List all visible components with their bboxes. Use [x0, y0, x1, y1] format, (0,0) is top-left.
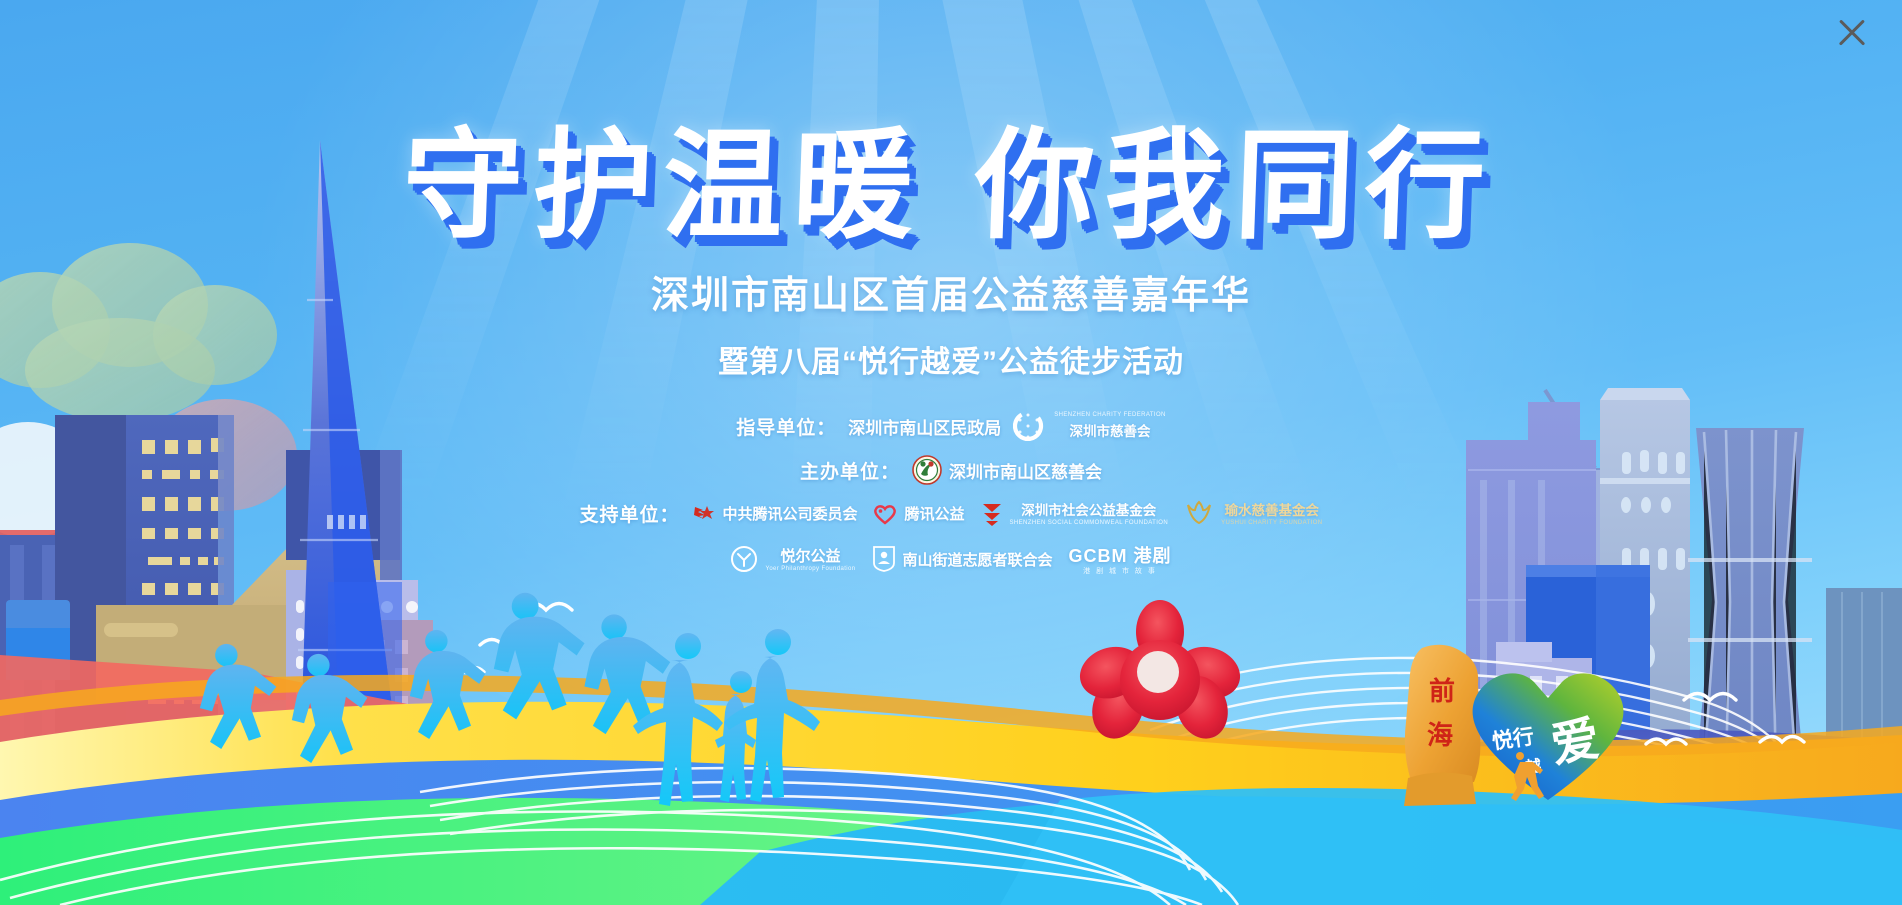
org-text-block: 瑜水慈善基金会 YUSHUI CHARITY FOUNDATION	[1221, 499, 1322, 528]
shenzhen-social-commonweal-foundation-logo	[981, 501, 1003, 527]
partner-logos: 悦尔公益 Yoer Philanthropy Foundation 南山街道志愿…	[730, 542, 1171, 577]
nanshan-charity-emblem-logo	[912, 455, 942, 485]
shenzhen-charity-federation-logo	[1013, 411, 1047, 441]
org-sub-en: Yoer Philanthropy Foundation	[765, 566, 855, 574]
org-nanshan-charity: 深圳市南山区慈善会	[912, 455, 1102, 485]
org-name: 瑜水慈善基金会	[1225, 503, 1320, 518]
org-name: 深圳市慈善会	[1070, 424, 1151, 439]
yushui-charity-foundation-logo	[1184, 500, 1214, 528]
org-yoer-philanthropy: 悦尔公益 Yoer Philanthropy Foundation	[730, 545, 855, 574]
supporter-logos: 中共腾讯公司委员会 腾讯公益	[691, 499, 1322, 528]
org-name: 南山街道志愿者联合会	[903, 549, 1053, 570]
nanshan-volunteer-union-logo	[872, 545, 896, 573]
credit-text: 深圳市南山区民政局	[848, 414, 1001, 439]
page-title: 守护温暖 你我同行	[0, 0, 1902, 248]
credit-row-organizer: 主办单位： 深圳市南山区慈善会	[800, 455, 1102, 485]
poster-stage: 前 海 悦行 越 爱 守护温暖 你我同行 深圳市南山区首届公益慈善嘉年华 暨第八…	[0, 0, 1902, 905]
org-sub-en: SHENZHEN SOCIAL COMMONWEAL FOUNDATION	[1010, 520, 1169, 528]
org-nanshan-volunteer-union: 南山街道志愿者联合会	[872, 545, 1053, 573]
org-name: GCBM 港剧	[1069, 546, 1172, 566]
credit-row-partners: 悦尔公益 Yoer Philanthropy Foundation 南山街道志愿…	[730, 542, 1171, 577]
org-shenzhen-charity-federation: SHENZHEN CHARITY FEDERATION 深圳市慈善会	[1013, 411, 1166, 441]
org-text-block: 悦尔公益 Yoer Philanthropy Foundation	[765, 545, 855, 574]
org-sub-en: SHENZHEN CHARITY FEDERATION	[1054, 412, 1166, 420]
credits-block: 指导单位： 深圳市南山区民政局 SHENZHEN CHARITY FEDERAT…	[0, 411, 1902, 576]
close-icon[interactable]	[1828, 8, 1876, 56]
org-yushui-charity: 瑜水慈善基金会 YUSHUI CHARITY FOUNDATION	[1184, 499, 1322, 528]
org-name: 深圳市南山区慈善会	[949, 458, 1102, 483]
org-text-block: 深圳市社会公益基金会 SHENZHEN SOCIAL COMMONWEAL FO…	[1010, 499, 1169, 528]
credit-row-supporters: 支持单位： 中共腾讯公司委员会 腾讯公益	[579, 499, 1322, 528]
org-shenzhen-social-commonweal: 深圳市社会公益基金会 SHENZHEN SOCIAL COMMONWEAL FO…	[981, 499, 1169, 528]
org-text-block: SHENZHEN CHARITY FEDERATION 深圳市慈善会	[1054, 412, 1166, 441]
subtitle-secondary: 暨第八届“悦行越爱”公益徒步活动	[0, 337, 1902, 381]
org-name: 腾讯公益	[904, 503, 964, 524]
credit-label: 支持单位：	[579, 500, 679, 527]
tencent-charity-heart-logo	[873, 503, 897, 525]
org-cpc-tencent: 中共腾讯公司委员会	[691, 502, 857, 526]
subtitle-primary: 深圳市南山区首届公益慈善嘉年华	[0, 264, 1902, 319]
org-tencent-charity: 腾讯公益	[873, 503, 964, 525]
credit-label: 主办单位：	[800, 457, 900, 484]
credit-row-guidance: 指导单位： 深圳市南山区民政局 SHENZHEN CHARITY FEDERAT…	[736, 411, 1166, 441]
org-sub-en: YUSHUI CHARITY FOUNDATION	[1221, 520, 1322, 528]
org-text-block: GCBM 港剧 港 剧 城 市 故 事	[1069, 542, 1172, 577]
org-name: 悦尔公益	[780, 548, 840, 565]
org-name: 中共腾讯公司委员会	[722, 503, 857, 524]
org-name: 深圳市社会公益基金会	[1021, 503, 1156, 518]
credit-label: 指导单位：	[736, 413, 836, 440]
org-gcbm: GCBM 港剧 港 剧 城 市 故 事	[1069, 542, 1172, 577]
yoer-philanthropy-logo	[730, 545, 758, 573]
org-sub-en: 港 剧 城 市 故 事	[1069, 568, 1172, 577]
poster-content: 守护温暖 你我同行 深圳市南山区首届公益慈善嘉年华 暨第八届“悦行越爱”公益徒步…	[0, 0, 1902, 577]
cpc-tencent-committee-logo	[691, 502, 715, 526]
